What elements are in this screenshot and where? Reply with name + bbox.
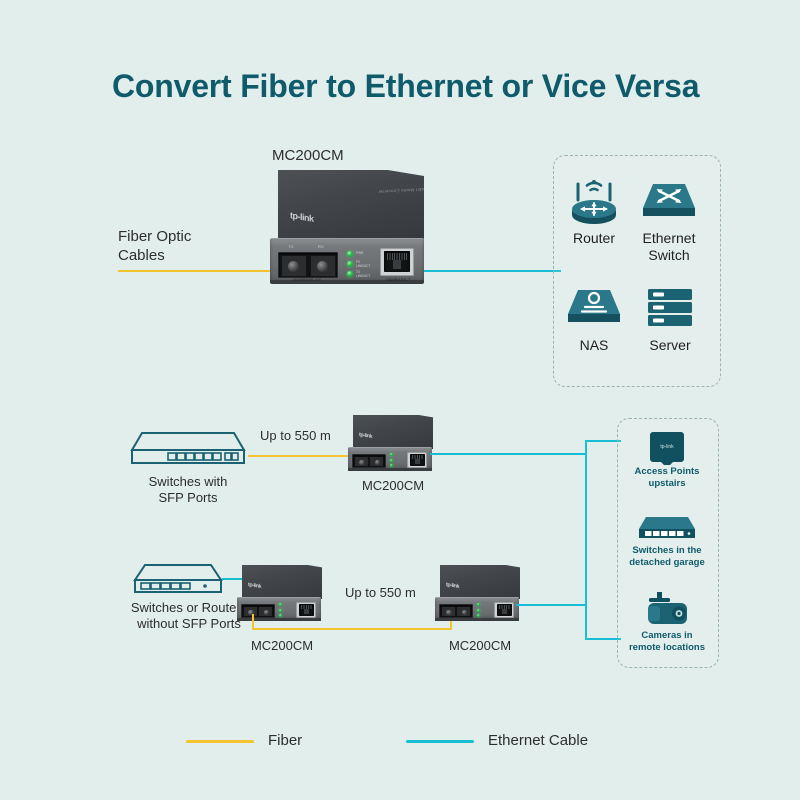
legend-fiber-swatch xyxy=(186,740,254,743)
cameras-line2: remote locations xyxy=(616,642,718,654)
hero-fiber-cable-line xyxy=(118,270,276,272)
switch-with-sfp-icon xyxy=(128,430,248,466)
middle-ethernet-into-panel xyxy=(585,440,621,442)
ethernet-switch-icon xyxy=(641,180,697,224)
access-points-line1: Access Points xyxy=(620,466,714,478)
router-label: Router xyxy=(554,230,634,247)
access-points-label: Access Points upstairs xyxy=(620,466,714,491)
nas-label: NAS xyxy=(554,337,634,354)
fiber-port-rx-ferrule xyxy=(316,260,329,273)
server-icon xyxy=(644,288,696,332)
switches-with-sfp-line1: Switches with xyxy=(122,474,254,490)
middle-ethernet-line xyxy=(430,453,586,455)
fiber-port-standard-label: 1000BASE-SX xyxy=(274,277,340,282)
camera-icon xyxy=(641,592,693,630)
middle-converter-label: MC200CM xyxy=(338,478,448,494)
nas-icon xyxy=(566,288,622,332)
led-pwr xyxy=(347,251,353,257)
garage-switch-icon xyxy=(637,515,697,543)
page-title: Convert Fiber to Ethernet or Vice Versa xyxy=(112,68,752,105)
device-top-text: Gigabit Media Converter xyxy=(378,187,424,195)
garage-switch-line1: Switches in the xyxy=(618,545,716,557)
device-top-shell xyxy=(278,170,424,242)
legend-fiber-label: Fiber xyxy=(268,732,388,751)
led-fx-link-act xyxy=(347,261,353,267)
rj45-port xyxy=(407,452,427,468)
rj45-port xyxy=(380,248,414,276)
led-pwr-label: PWR xyxy=(356,252,363,256)
svg-text:tp-link: tp-link xyxy=(660,444,674,450)
switch-without-sfp-icon xyxy=(133,562,225,594)
rj45-port xyxy=(494,602,514,618)
fiber-optic-cables-label: Fiber Optic Cables xyxy=(118,228,258,266)
led-tx-link-act xyxy=(347,271,353,277)
middle-media-converter: tp-link xyxy=(348,415,438,485)
bottom-fiber-line xyxy=(252,628,452,630)
cameras-line1: Cameras in xyxy=(616,630,718,642)
diagram-canvas: Convert Fiber to Ethernet or Vice Versa … xyxy=(0,0,800,800)
device-top-text-wrap: Gigabit Media Converter xyxy=(378,182,424,206)
hero-device-label: MC200CM xyxy=(272,147,412,166)
switches-with-sfp-label: Switches with SFP Ports xyxy=(122,474,254,507)
ethernet-switch-label-line2: Switch xyxy=(629,247,709,264)
bottom-right-converter-label: MC200CM xyxy=(425,638,535,654)
access-points-line2: upstairs xyxy=(620,478,714,490)
led-fx-label: FX LINK/ACT xyxy=(356,261,374,268)
led-tx-label: TX LINK/ACT xyxy=(356,271,374,278)
garage-switch-line2: detached garage xyxy=(618,557,716,569)
hero-media-converter: tp-link Gigabit Media Converter TX RX 10… xyxy=(270,170,430,300)
fiber-port-rx-label: RX xyxy=(308,244,334,249)
fiber-port-block xyxy=(278,252,338,278)
cameras-label: Cameras in remote locations xyxy=(616,630,718,655)
rj45-standard-label: 1000BASE-T xyxy=(378,277,418,282)
fiber-optic-cables-line2: Cables xyxy=(118,247,258,266)
legend-ethernet-label: Ethernet Cable xyxy=(488,732,668,751)
bottom-right-media-converter: tp-link xyxy=(435,565,525,635)
ethernet-switch-label-line1: Ethernet xyxy=(629,230,709,247)
server-label: Server xyxy=(630,337,710,354)
middle-fiber-line xyxy=(248,455,353,457)
rj45-port xyxy=(296,602,316,618)
bottom-left-media-converter: tp-link xyxy=(237,565,327,635)
switches-with-sfp-line2: SFP Ports xyxy=(122,490,254,506)
bottom-left-converter-label: MC200CM xyxy=(227,638,337,654)
fiber-port-tx-label: TX xyxy=(278,244,304,249)
panel-ethernet-bus xyxy=(585,440,587,640)
fiber-optic-cables-line1: Fiber Optic xyxy=(118,228,258,247)
access-point-icon: tp-link xyxy=(645,431,689,467)
hero-ethernet-cable-line xyxy=(424,270,561,272)
router-icon xyxy=(564,178,624,226)
ethernet-switch-label: Ethernet Switch xyxy=(629,230,709,264)
legend-ethernet-swatch xyxy=(406,740,474,743)
bottom-right-ethernet-line xyxy=(516,604,586,606)
fiber-port-tx-ferrule xyxy=(287,260,300,273)
garage-switch-label: Switches in the detached garage xyxy=(618,545,716,570)
